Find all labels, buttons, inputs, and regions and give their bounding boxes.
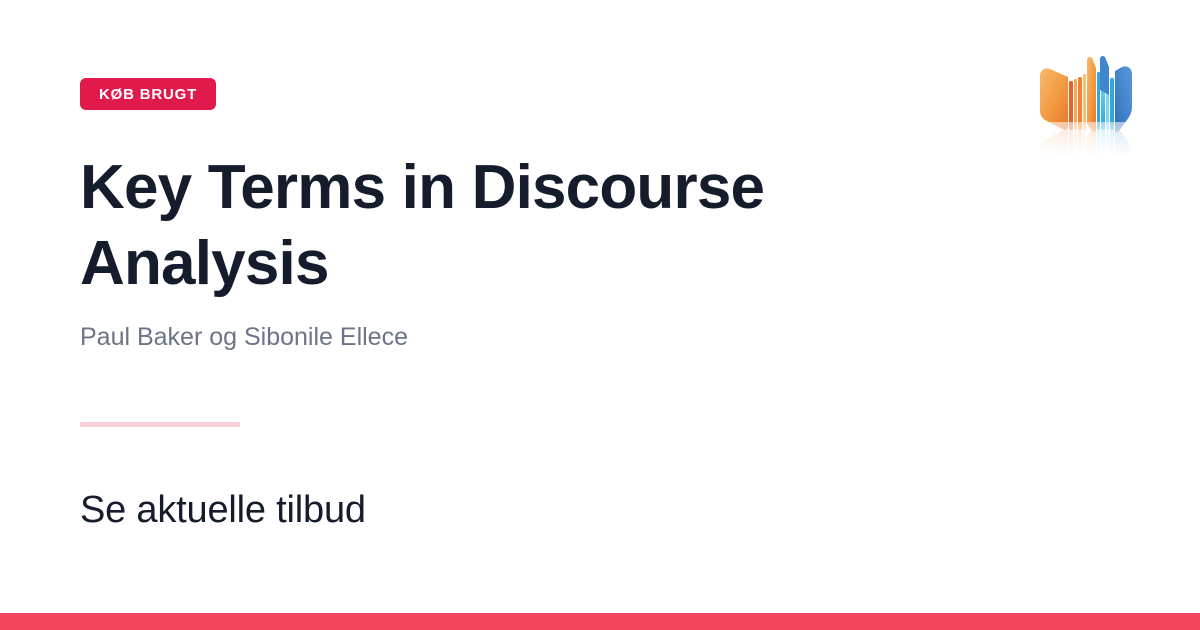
cta-link[interactable]: Se aktuelle tilbud bbox=[80, 484, 366, 536]
brand-logo[interactable] bbox=[1034, 50, 1138, 160]
page-title: Key Terms in Discourse Analysis bbox=[80, 150, 960, 302]
footer-accent-bar bbox=[0, 613, 1200, 630]
status-badge: KØB BRUGT bbox=[80, 78, 216, 110]
section-divider bbox=[80, 422, 240, 427]
share-card: KØB BRUGT bbox=[0, 0, 1200, 630]
book-authors: Paul Baker og Sibonile Ellece bbox=[80, 320, 960, 354]
